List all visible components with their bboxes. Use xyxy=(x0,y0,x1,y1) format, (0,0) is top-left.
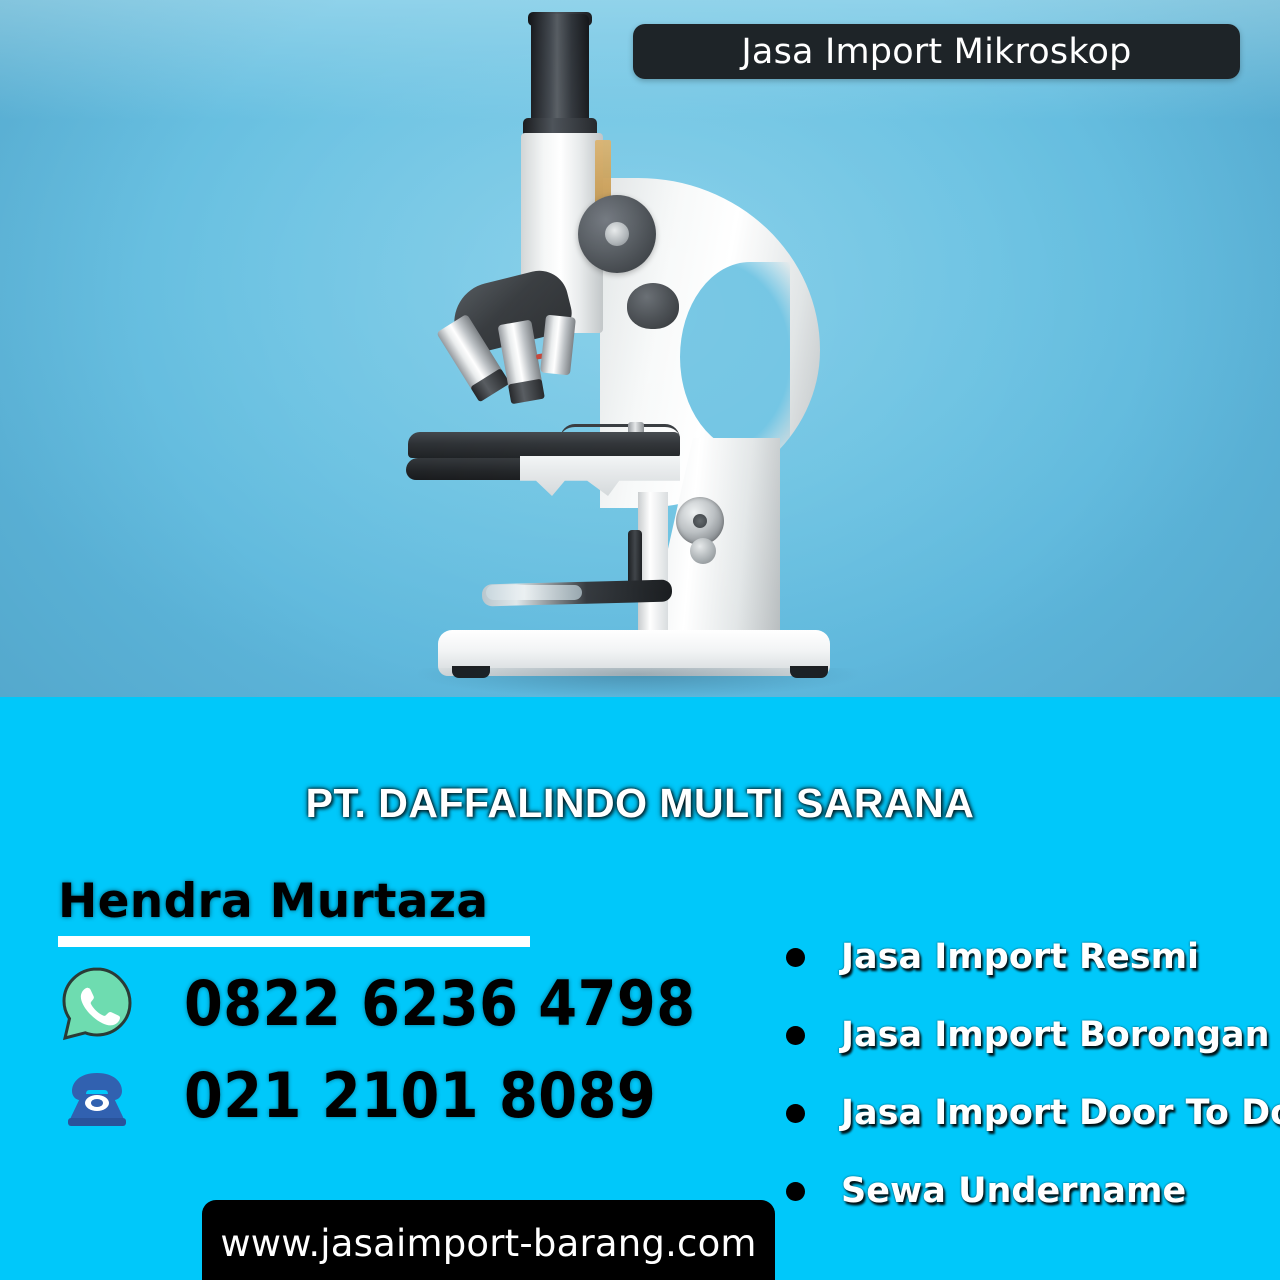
contact-block: Hendra Murtaza 0822 6236 4798 xyxy=(58,877,758,1131)
list-item: Jasa Import Borongan xyxy=(786,1015,1266,1055)
whatsapp-number: 0822 6236 4798 xyxy=(184,973,696,1035)
info-panel: PT. DAFFALINDO MULTI SARANA Hendra Murta… xyxy=(0,697,1280,1280)
service-label: Jasa Import Resmi xyxy=(841,937,1199,977)
telephone-number: 021 2101 8089 xyxy=(184,1065,656,1127)
name-underline xyxy=(58,936,530,947)
service-label: Sewa Undername xyxy=(841,1171,1186,1211)
website-url: www.jasaimport-barang.com xyxy=(220,1222,756,1265)
telephone-row[interactable]: 021 2101 8089 xyxy=(58,1061,758,1131)
website-badge[interactable]: www.jasaimport-barang.com xyxy=(202,1200,775,1280)
service-label: Jasa Import Door To Door xyxy=(841,1093,1280,1133)
whatsapp-icon xyxy=(58,965,136,1043)
list-item: Jasa Import Door To Door xyxy=(786,1093,1266,1133)
bullet-icon xyxy=(786,1026,805,1045)
header-banner: Jasa Import Mikroskop xyxy=(633,24,1240,79)
services-list: Jasa Import Resmi Jasa Import Borongan J… xyxy=(786,937,1266,1249)
photo-vignette xyxy=(0,0,1280,697)
contact-person-name: Hendra Murtaza xyxy=(58,877,758,926)
whatsapp-row[interactable]: 0822 6236 4798 xyxy=(58,965,758,1043)
microscope-photo xyxy=(0,0,1280,697)
bullet-icon xyxy=(786,948,805,967)
promo-poster: Jasa Import Mikroskop PT. DAFFALINDO MUL… xyxy=(0,0,1280,1280)
bullet-icon xyxy=(786,1104,805,1123)
bullet-icon xyxy=(786,1182,805,1201)
list-item: Sewa Undername xyxy=(786,1171,1266,1211)
telephone-icon xyxy=(58,1061,136,1131)
service-label: Jasa Import Borongan xyxy=(841,1015,1270,1055)
company-name: PT. DAFFALINDO MULTI SARANA xyxy=(0,780,1280,827)
header-banner-title: Jasa Import Mikroskop xyxy=(741,32,1131,72)
list-item: Jasa Import Resmi xyxy=(786,937,1266,977)
